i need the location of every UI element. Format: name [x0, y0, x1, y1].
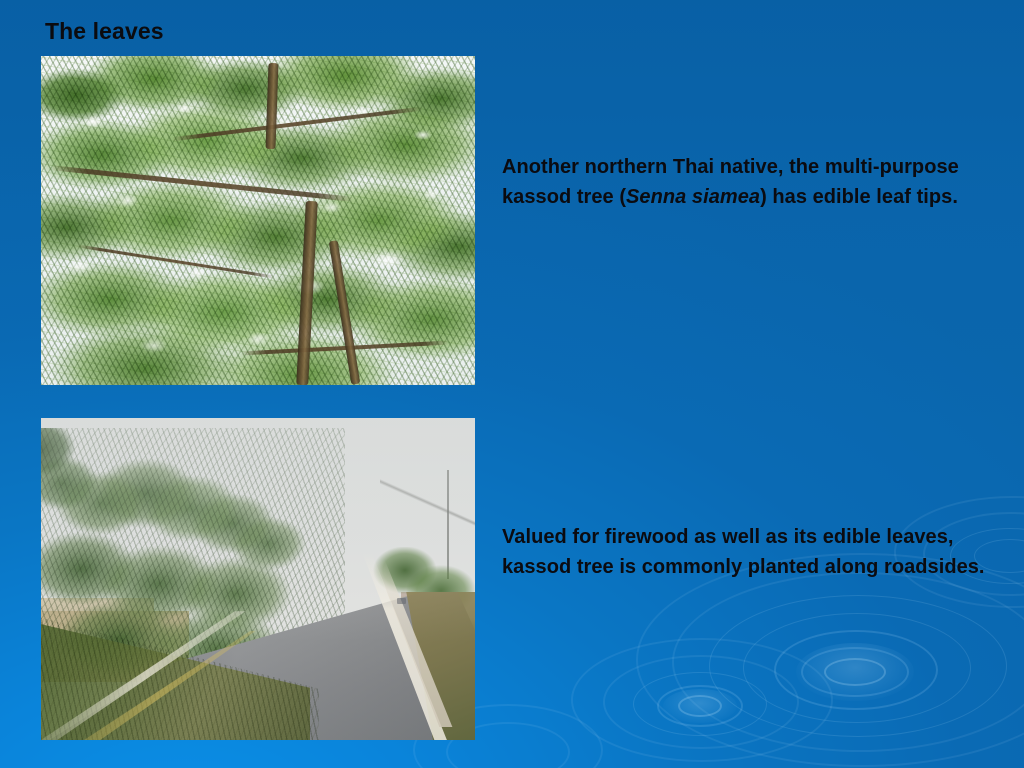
kassod-canopy-photo	[41, 56, 475, 385]
paragraph-2-text: Valued for firewood as well as its edibl…	[502, 526, 985, 578]
presentation-slide: The leaves Ano	[0, 0, 1024, 768]
paragraph-1-text-after: ) has edible leaf tips.	[760, 186, 958, 208]
description-paragraph-1: Another northern Thai native, the multi-…	[502, 152, 1010, 212]
scientific-name: Senna siamea	[626, 186, 760, 208]
slide-title: The leaves	[45, 18, 164, 45]
photo-sky-gaps-layer	[41, 56, 475, 385]
description-paragraph-2: Valued for firewood as well as its edibl…	[502, 522, 1018, 582]
photo-haze-overlay	[41, 418, 475, 740]
kassod-roadside-photo	[41, 418, 475, 740]
